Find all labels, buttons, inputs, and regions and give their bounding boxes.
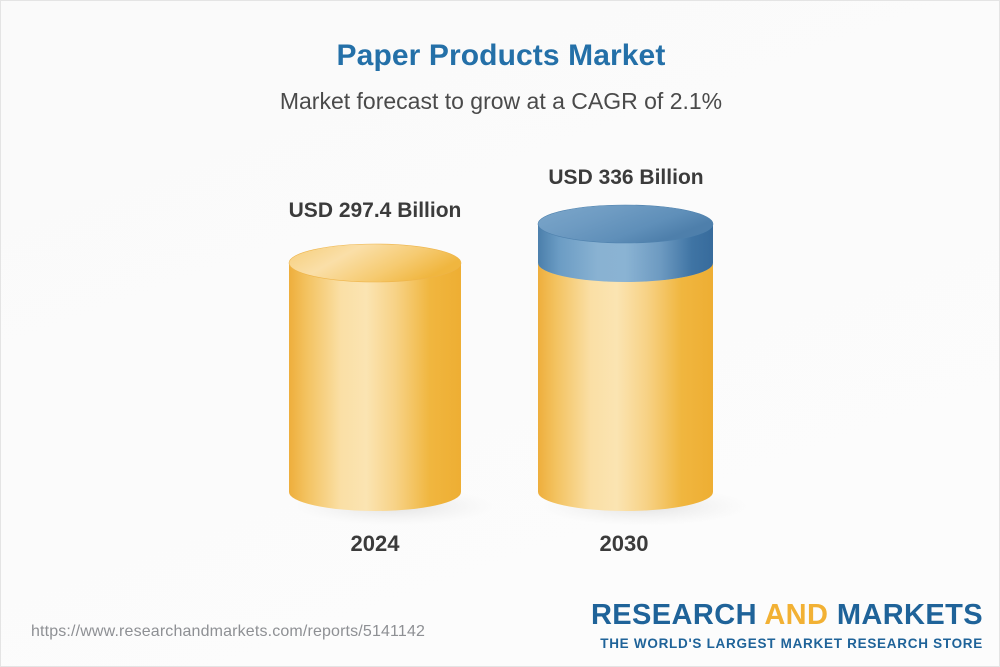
bar-group-2030: USD 336 Billion	[538, 1, 713, 601]
infographic-canvas: Paper Products Market Market forecast to…	[0, 0, 1000, 667]
logo-word-research: RESEARCH	[591, 599, 757, 631]
cylinder-2030	[524, 1, 756, 601]
cylinder-top-2030	[538, 205, 713, 243]
cylinder-top-2024	[289, 244, 461, 282]
bar-category-label-2030: 2030	[478, 531, 770, 557]
cylinder-2024	[275, 1, 505, 601]
logo-wordmark: RESEARCH AND MARKETS	[591, 601, 983, 630]
cylinder-body-base-2030	[538, 263, 713, 511]
logo-word-markets: MARKETS	[837, 599, 983, 631]
chart-plot-area: USD 297.4 Billion	[1, 1, 1000, 601]
cylinder-body-2024	[289, 263, 461, 511]
logo-tagline: THE WORLD'S LARGEST MARKET RESEARCH STOR…	[591, 637, 983, 651]
logo-word-and: AND	[764, 599, 828, 631]
bar-group-2024: USD 297.4 Billion	[289, 1, 461, 601]
source-url[interactable]: https://www.researchandmarkets.com/repor…	[31, 623, 425, 641]
research-and-markets-logo[interactable]: RESEARCH AND MARKETS THE WORLD'S LARGEST…	[591, 601, 983, 651]
